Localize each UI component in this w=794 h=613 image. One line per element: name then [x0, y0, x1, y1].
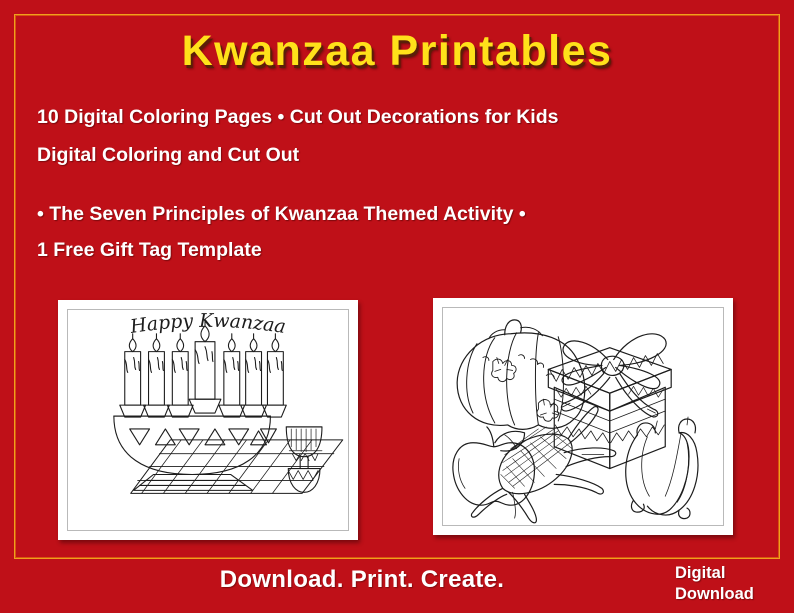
feature-line-2: Digital Coloring and Cut Out — [37, 144, 737, 167]
feature-line-3: • The Seven Principles of Kwanzaa Themed… — [37, 203, 737, 226]
feature-line-1: 10 Digital Coloring Pages • Cut Out Deco… — [37, 106, 737, 129]
preview-frame-harvest — [442, 307, 724, 526]
gift-box-illustration — [548, 334, 671, 469]
bananas-illustration — [626, 417, 698, 519]
footer-tagline: Download. Print. Create. — [0, 566, 724, 594]
digital-download-badge: Digital Download — [675, 563, 785, 605]
harvest-coloring-artwork — [443, 308, 723, 525]
page-title: Kwanzaa Printables — [0, 27, 794, 76]
badge-line-2: Download — [675, 584, 785, 605]
preview-frame-kinara: Happy Kwanzaa — [67, 309, 349, 531]
kinara-coloring-artwork: Happy Kwanzaa — [68, 310, 348, 530]
svg-text:Happy Kwanzaa: Happy Kwanzaa — [128, 311, 287, 338]
corn-illustration — [471, 407, 615, 523]
preview-card-kinara[interactable]: Happy Kwanzaa — [58, 300, 358, 540]
feature-line-4: 1 Free Gift Tag Template — [37, 239, 737, 262]
badge-line-1: Digital — [675, 563, 785, 584]
preview-card-harvest[interactable] — [433, 298, 733, 535]
kinara-caption: Happy Kwanzaa — [128, 311, 287, 338]
kwanzaa-printables-poster: Kwanzaa Printables 10 Digital Coloring P… — [0, 0, 794, 613]
